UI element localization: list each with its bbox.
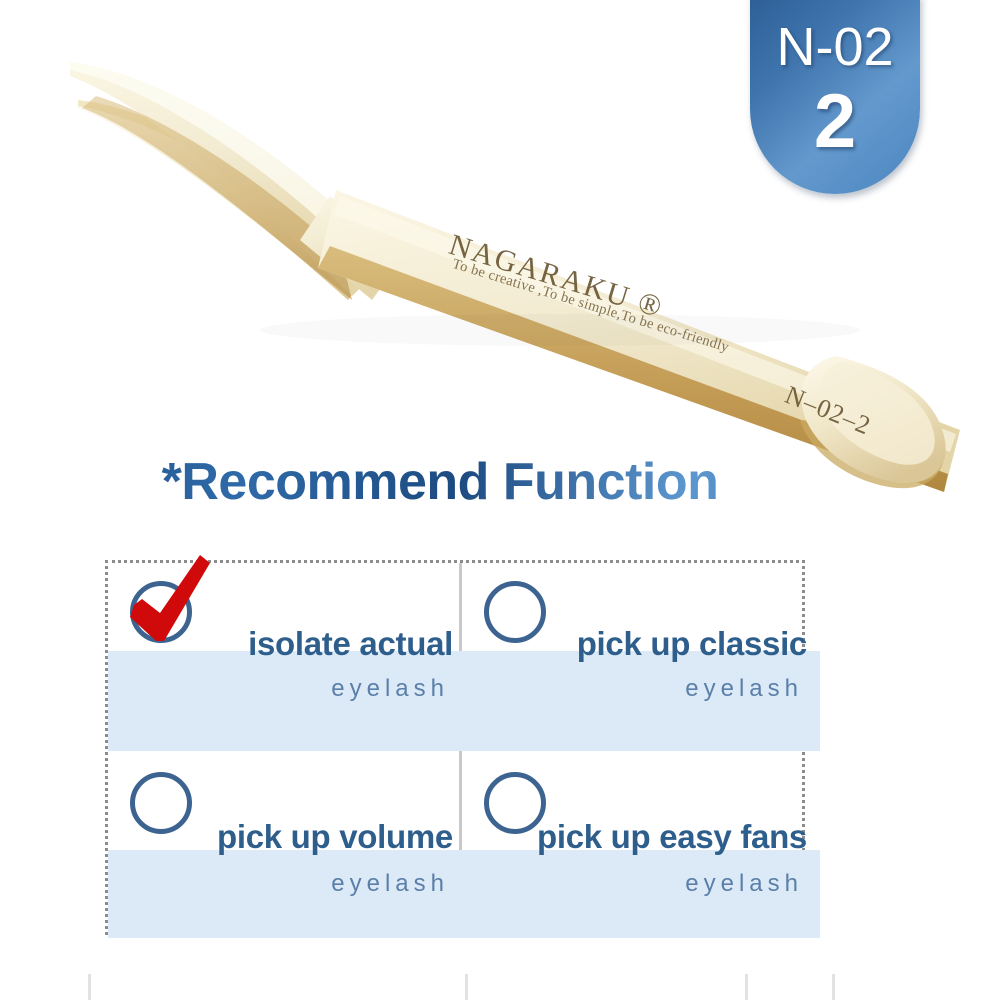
- function-cell-pick-up-classic[interactable]: pick up classic eyelash: [462, 563, 813, 751]
- function-subtitle: eyelash: [331, 870, 449, 898]
- empty-circle-icon[interactable]: [484, 581, 546, 643]
- function-subtitle: eyelash: [685, 870, 803, 898]
- badge-model-code: N-02: [750, 0, 920, 74]
- function-title: pick up easy fans: [537, 818, 807, 856]
- function-title: pick up volume: [217, 818, 453, 856]
- page-title: *Recommend Function: [0, 452, 880, 512]
- badge-variant-number: 2: [750, 74, 920, 160]
- section-tick: [832, 974, 835, 1000]
- function-cell-isolate-actual[interactable]: isolate actual eyelash: [108, 563, 459, 751]
- model-badge: N-02 2: [750, 0, 920, 194]
- product-infographic: NAGARAKU ® To be creative ,To be simple,…: [0, 0, 1000, 1000]
- function-subtitle: eyelash: [331, 675, 449, 703]
- red-check-icon: [114, 547, 218, 651]
- recommend-function-grid: isolate actual eyelash pick up classic e…: [105, 560, 805, 935]
- function-title: pick up classic: [577, 625, 807, 663]
- section-tick: [88, 974, 91, 1000]
- function-cell-pick-up-volume[interactable]: pick up volume eyelash: [108, 750, 459, 938]
- section-tick: [465, 974, 468, 1000]
- section-tick: [745, 974, 748, 1000]
- empty-circle-icon[interactable]: [130, 772, 192, 834]
- function-subtitle: eyelash: [685, 675, 803, 703]
- function-cell-pick-up-easy-fans[interactable]: pick up easy fans eyelash: [462, 750, 813, 938]
- function-title: isolate actual: [248, 625, 453, 663]
